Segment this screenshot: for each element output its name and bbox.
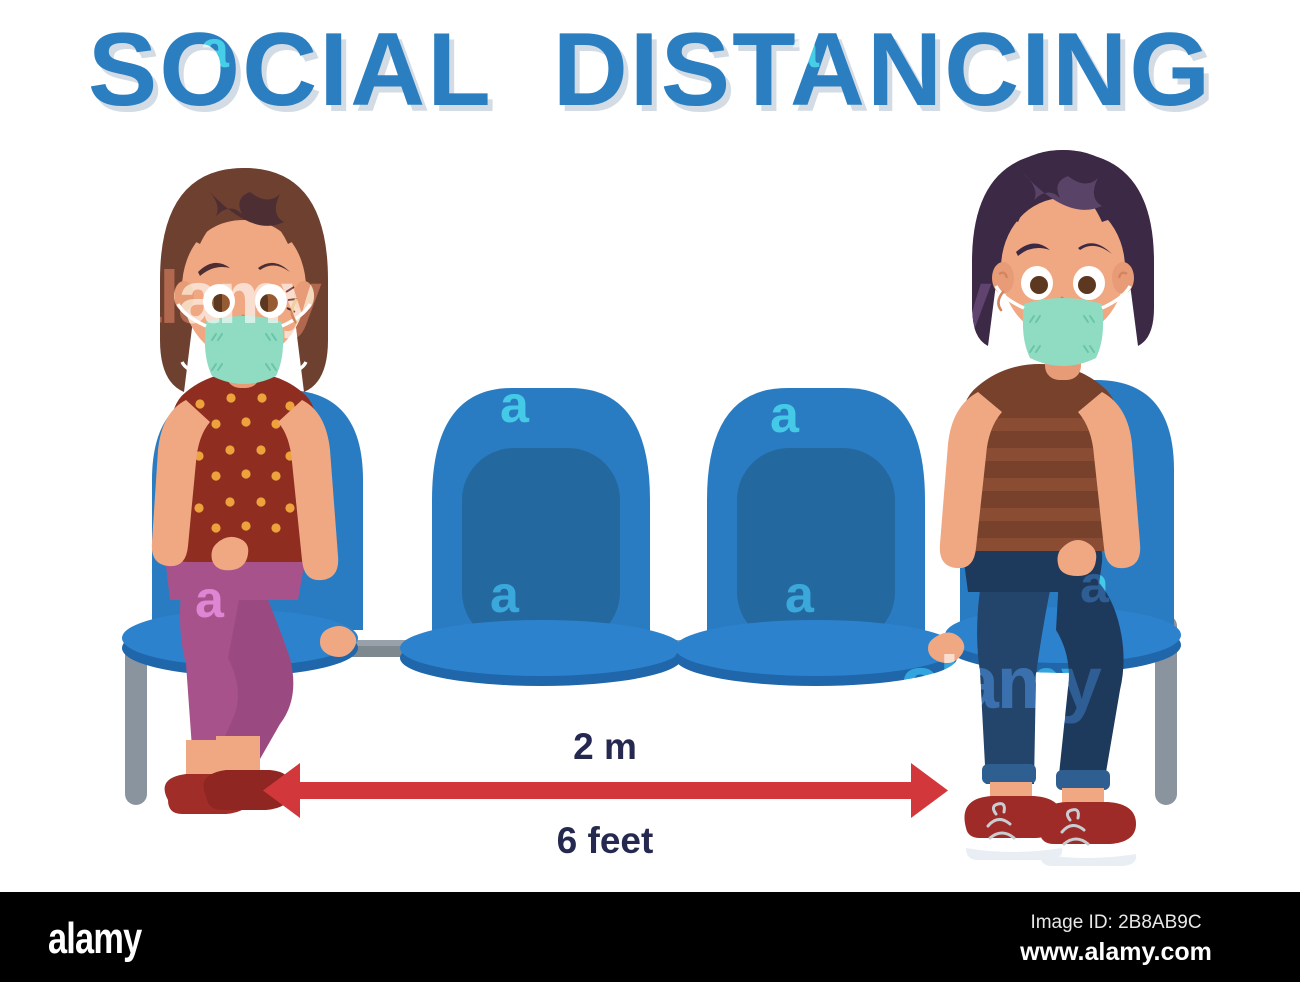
seated-woman-with-mask — [152, 168, 356, 814]
chair-2-empty — [400, 388, 682, 686]
distance-label-imperial: 6 feet — [455, 820, 755, 862]
poster-canvas: SOCIAL DISTANCING — [0, 0, 1300, 982]
distance-label-metric: 2 m — [455, 726, 755, 768]
alamy-footer-bar: alamy Image ID: 2B8AB9C www.alamy.com — [0, 892, 1300, 982]
chair-3-empty — [675, 388, 957, 686]
image-id-label: Image ID: 2B8AB9C — [966, 912, 1266, 934]
alamy-website-label: www.alamy.com — [966, 938, 1266, 967]
double-headed-distance-arrow — [263, 763, 948, 818]
alamy-logo: alamy — [48, 914, 141, 964]
seated-man-with-mask — [928, 150, 1154, 866]
